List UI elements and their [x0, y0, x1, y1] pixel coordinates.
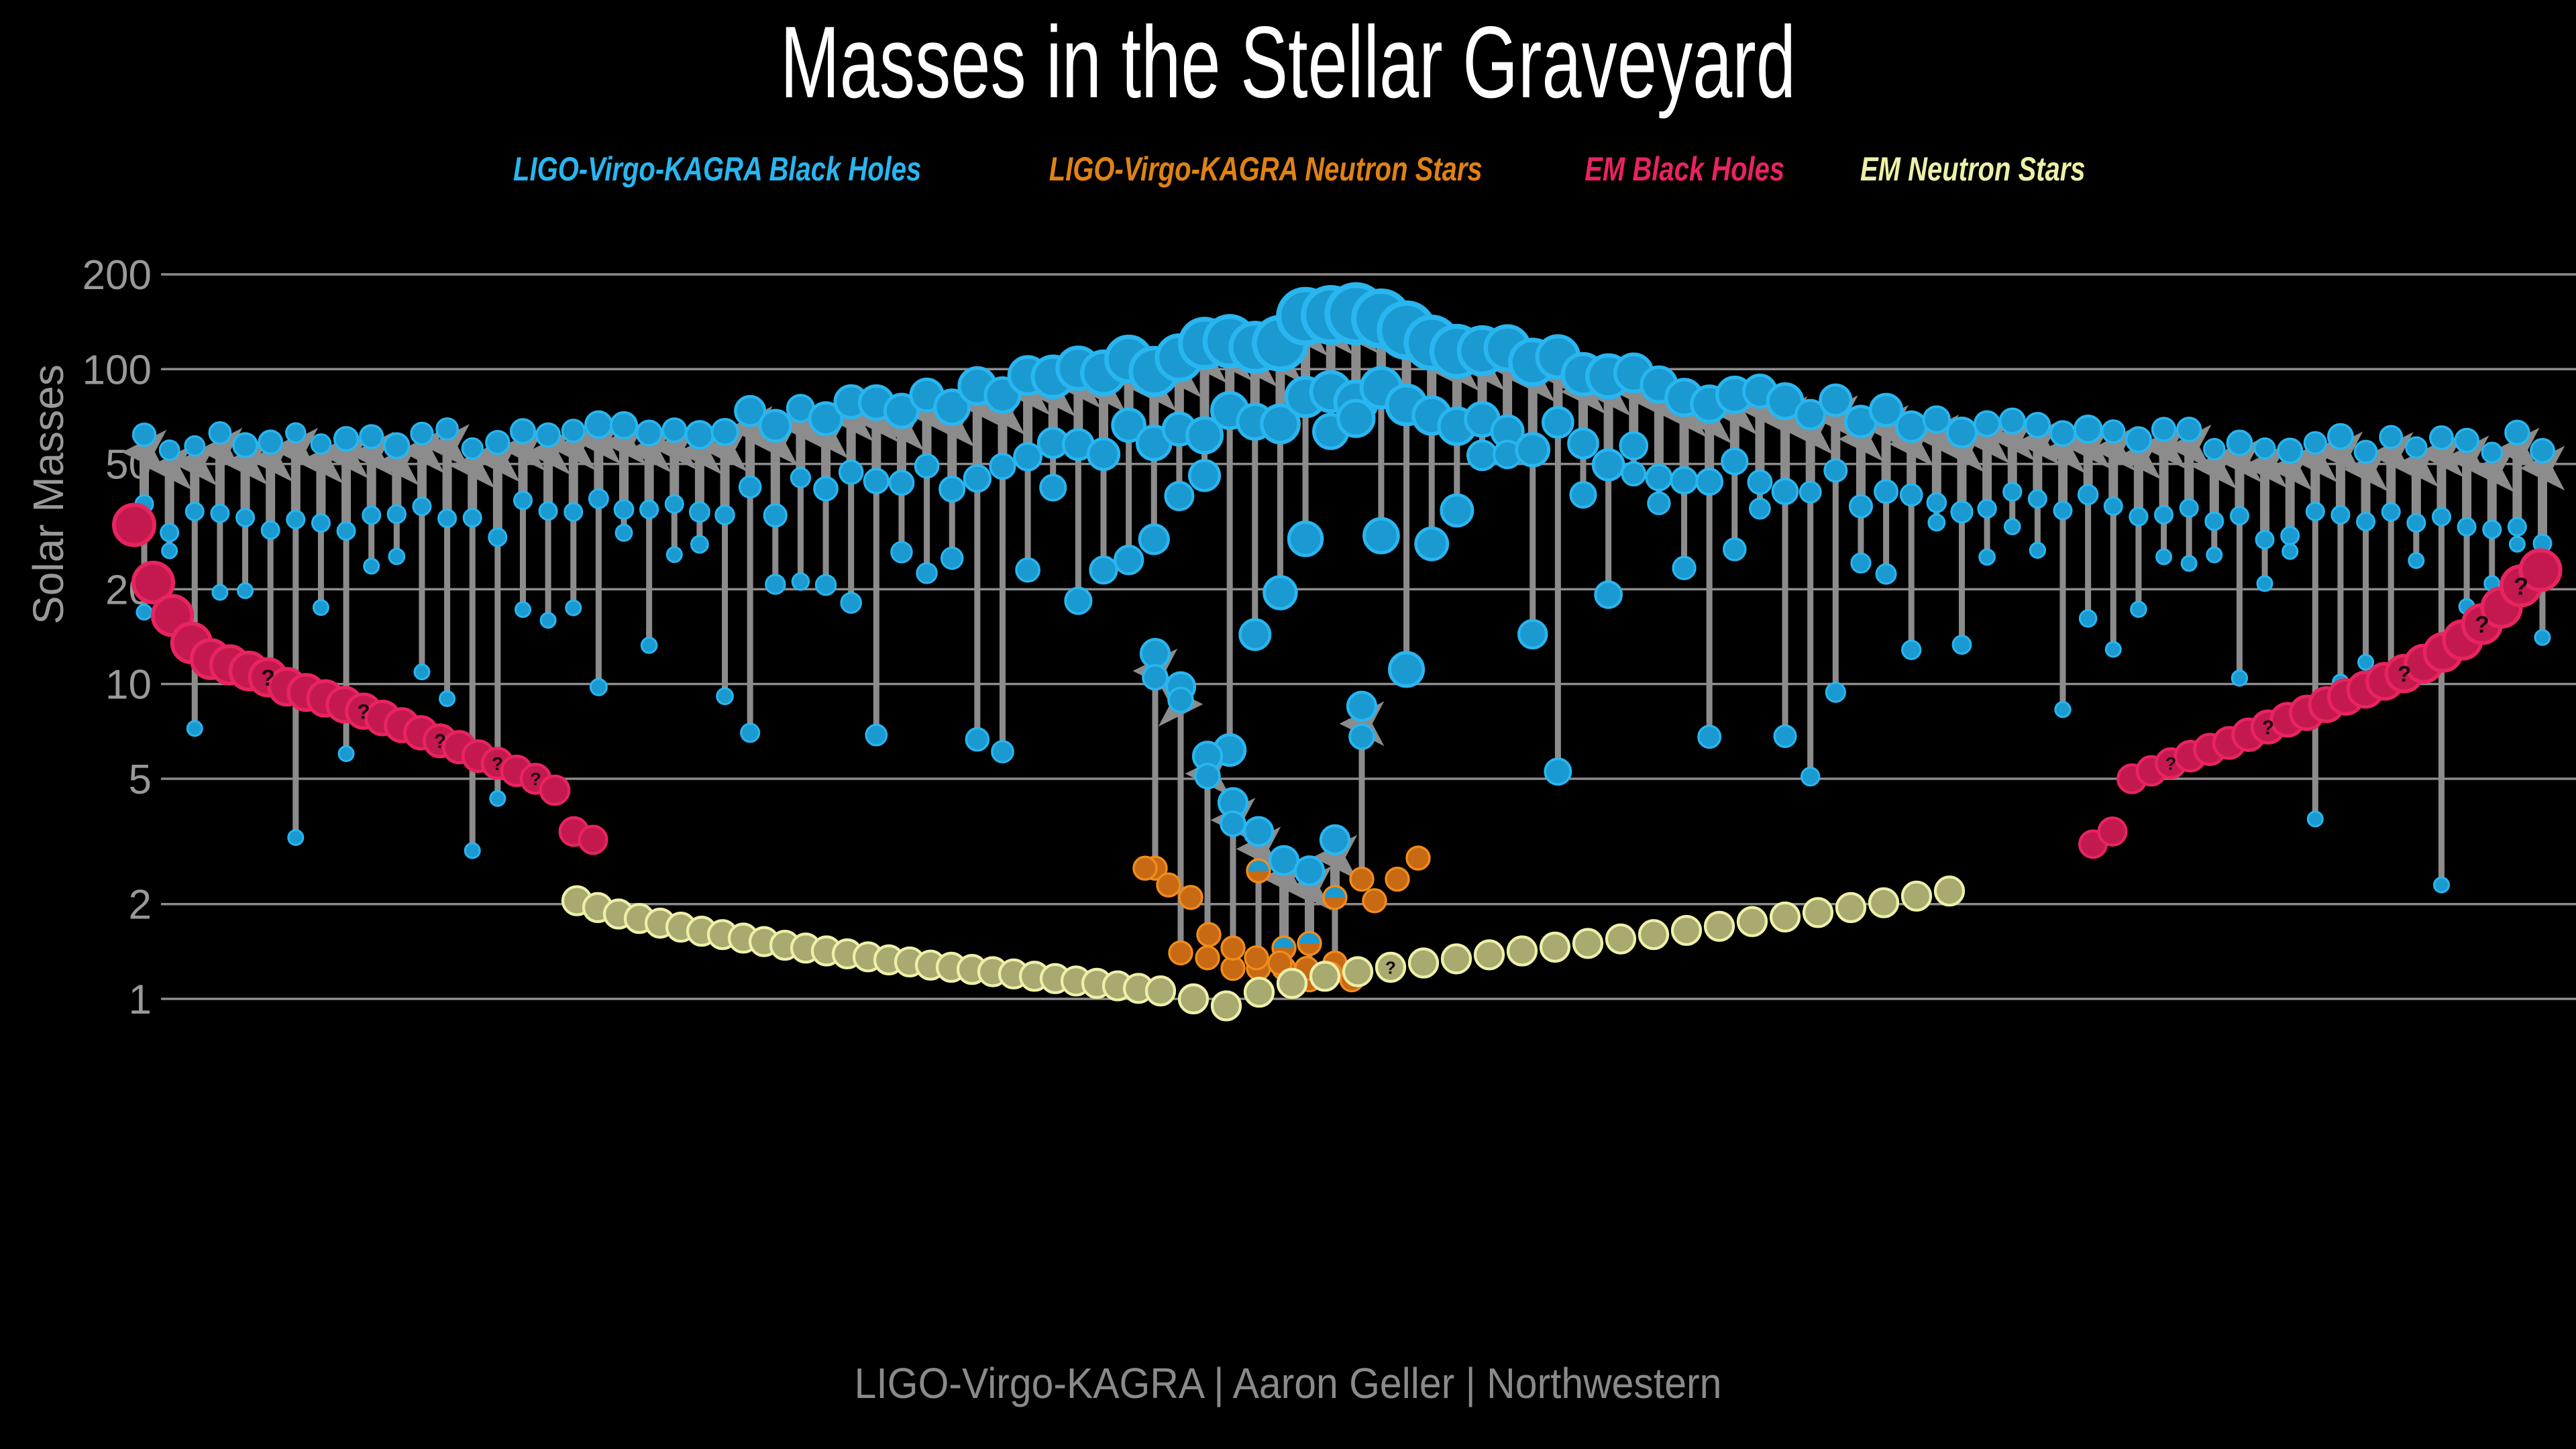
data-point [1245, 947, 1268, 969]
data-point [1607, 925, 1635, 953]
data-point [2357, 513, 2375, 531]
data-point [541, 776, 569, 804]
data-point [565, 503, 582, 521]
data-point [2255, 438, 2275, 458]
data-point [2256, 531, 2273, 548]
data-point [1875, 480, 1898, 503]
data-point [562, 420, 584, 442]
data-point [2055, 702, 2070, 717]
data-point [1902, 882, 1931, 910]
data-point [1545, 759, 1570, 784]
data-point [161, 524, 178, 541]
uncertainty-marker: ? [2475, 611, 2489, 638]
data-point [213, 585, 227, 600]
data-point [1951, 502, 1972, 523]
data-point [262, 521, 279, 539]
data-point [915, 454, 938, 477]
data-point [415, 665, 429, 680]
data-point [1750, 498, 1770, 519]
data-point [312, 515, 329, 532]
data-point [1270, 847, 1298, 875]
data-point [2157, 549, 2171, 564]
data-point [1442, 495, 1472, 526]
uncertainty-marker: ? [434, 731, 446, 753]
data-point [2257, 576, 2272, 591]
data-point [1311, 962, 1339, 990]
data-point [892, 542, 912, 562]
data-point [1265, 577, 1297, 609]
data-point [2025, 413, 2049, 437]
data-point [364, 559, 379, 574]
data-point [2075, 416, 2102, 443]
chart-canvas: Masses in the Stellar Graveyard LIGO-Vir… [0, 0, 2576, 1449]
data-point [589, 490, 608, 508]
data-point [641, 638, 657, 653]
data-point [2306, 503, 2324, 521]
data-point [2131, 602, 2147, 617]
data-point [917, 563, 936, 583]
data-point [667, 547, 682, 562]
data-point [1014, 443, 1041, 470]
data-point [611, 413, 637, 438]
data-point [1724, 539, 1746, 560]
data-point [2382, 503, 2400, 521]
data-point [1442, 945, 1470, 973]
data-point [764, 504, 786, 527]
data-point [760, 411, 791, 441]
data-point [1519, 621, 1546, 648]
uncertainty-marker: ? [1385, 957, 1396, 977]
data-point [1671, 468, 1697, 493]
data-point [160, 441, 179, 460]
data-point [1348, 692, 1376, 720]
data-point [1278, 969, 1306, 998]
data-point [1324, 886, 1346, 898]
data-point [1924, 407, 1949, 432]
data-point [2458, 518, 2475, 535]
data-point [539, 502, 557, 520]
data-point [1273, 936, 1295, 948]
data-point [1169, 688, 1193, 712]
data-point [335, 427, 358, 451]
data-point [186, 503, 203, 521]
data-point [1016, 559, 1039, 582]
data-point [211, 504, 229, 522]
data-point [1338, 400, 1374, 436]
data-point [413, 498, 431, 515]
data-point [2408, 515, 2425, 532]
data-point [1672, 916, 1701, 945]
data-point [1407, 847, 1430, 869]
data-point [2332, 506, 2349, 523]
data-point [890, 471, 913, 494]
data-point [965, 466, 991, 492]
data-point [1978, 500, 1996, 517]
data-point [990, 454, 1015, 479]
data-point [2178, 418, 2201, 441]
data-point [814, 477, 837, 500]
data-point [259, 431, 282, 453]
data-point [515, 602, 530, 617]
data-point [741, 724, 759, 742]
data-point [1475, 941, 1503, 969]
data-point [1947, 418, 1976, 447]
data-point [2406, 437, 2426, 458]
data-point [1773, 479, 1798, 504]
data-point [1673, 557, 1695, 579]
data-point [1517, 433, 1549, 466]
data-point [665, 495, 683, 513]
data-point [2227, 431, 2251, 455]
data-point [2099, 818, 2127, 845]
data-point [1975, 411, 2000, 436]
data-point [2102, 421, 2125, 443]
plot-svg: 200100502010521 ??????????? [0, 0, 2576, 1449]
data-point [2508, 518, 2526, 535]
data-point [2283, 544, 2298, 559]
data-point [1321, 826, 1349, 854]
data-point [1247, 859, 1270, 871]
data-point [2434, 877, 2449, 892]
data-point [1953, 636, 1971, 654]
data-point [2051, 421, 2075, 445]
data-point [1298, 932, 1321, 943]
data-point [1825, 460, 1847, 482]
data-point [287, 511, 305, 529]
data-point [1648, 492, 1670, 514]
data-point [739, 476, 760, 497]
data-point [360, 425, 383, 448]
data-point [133, 424, 155, 446]
data-point [2482, 443, 2502, 462]
uncertainty-marker: ? [2262, 716, 2274, 739]
data-point [1222, 936, 1244, 959]
data-point [1646, 465, 1671, 490]
data-point [1240, 620, 1270, 649]
data-point [1169, 941, 1192, 964]
data-point [1705, 912, 1733, 941]
data-point [1900, 484, 1922, 506]
data-point [286, 423, 305, 442]
credit-caption: LIGO-Virgo-KAGRA | Aaron Geller | Northw… [103, 1356, 2473, 1410]
data-point [1738, 908, 1766, 936]
data-point [209, 422, 231, 443]
data-point [2409, 553, 2424, 568]
data-point [2004, 483, 2021, 500]
data-point [2000, 409, 2025, 433]
data-point [1935, 877, 1964, 905]
data-point [238, 584, 253, 598]
data-point [614, 500, 633, 519]
data-point [1364, 519, 1399, 553]
uncertainty-marker: ? [530, 769, 541, 790]
uncertainty-marker: ? [2165, 753, 2177, 774]
data-point [2232, 671, 2247, 686]
data-point [1541, 933, 1569, 961]
data-point [942, 547, 963, 568]
data-point [1929, 515, 1945, 531]
data-point [1386, 868, 1409, 891]
data-point [486, 431, 509, 454]
data-point [137, 605, 152, 620]
data-point [1390, 653, 1424, 686]
data-point [1896, 412, 1926, 441]
data-point [237, 509, 254, 527]
data-point [2180, 499, 2198, 517]
data-point [866, 724, 887, 745]
data-point [1165, 482, 1193, 510]
data-point [1409, 949, 1438, 977]
data-point [490, 791, 505, 806]
data-point [2483, 521, 2501, 538]
data-point [1774, 726, 1796, 747]
data-point [514, 492, 531, 509]
uncertainty-marker: ? [2398, 662, 2411, 687]
data-point [1416, 528, 1448, 559]
data-point [1468, 441, 1497, 470]
data-point [185, 436, 205, 455]
data-point [1344, 957, 1372, 985]
data-point [1771, 903, 1799, 931]
data-point [686, 421, 713, 448]
data-point [388, 505, 405, 523]
data-point [1090, 557, 1116, 583]
data-point [2030, 543, 2045, 557]
data-point [1902, 641, 1921, 659]
data-point [1870, 889, 1898, 917]
data-point [716, 506, 734, 524]
data-point [389, 549, 405, 564]
data-point [1593, 449, 1623, 480]
data-point [1804, 898, 1832, 926]
data-point [616, 525, 632, 541]
data-point [2455, 429, 2478, 451]
data-point [2355, 441, 2377, 463]
data-point [2432, 508, 2450, 525]
data-point [1620, 433, 1647, 460]
data-point [288, 830, 303, 845]
data-point [1295, 857, 1324, 885]
data-point [1143, 665, 1167, 690]
y-tick-label: 5 [129, 757, 152, 803]
data-point [2204, 439, 2224, 459]
y-tick-label: 100 [83, 347, 152, 393]
data-point [2078, 485, 2097, 504]
data-point [816, 575, 835, 594]
uncertainty-marker: ? [492, 753, 503, 774]
data-point [1245, 978, 1273, 1006]
data-point [1543, 407, 1572, 437]
data-point [1826, 683, 1845, 702]
uncertainty-marker: ? [357, 699, 370, 723]
data-point [2380, 426, 2402, 448]
data-point [1040, 475, 1065, 500]
data-point [966, 729, 988, 751]
data-point [791, 468, 810, 487]
data-point [439, 510, 456, 527]
data-point [586, 412, 612, 438]
data-point [1197, 923, 1220, 946]
data-point [489, 529, 506, 546]
data-point [1146, 977, 1175, 1005]
data-point [766, 575, 785, 594]
data-point [437, 419, 458, 440]
uncertainty-marker: ? [261, 665, 275, 691]
data-point [339, 746, 354, 761]
data-point [864, 469, 888, 493]
data-point [1179, 886, 1202, 909]
data-point [2531, 439, 2554, 462]
data-point [1195, 764, 1220, 788]
y-tick-label: 10 [105, 662, 152, 708]
data-point [313, 600, 328, 615]
data-point [1157, 873, 1180, 896]
data-point [1927, 494, 1946, 513]
data-point [2106, 642, 2121, 657]
data-point [411, 423, 433, 444]
data-point [1801, 767, 1819, 786]
data-point [1289, 522, 1322, 555]
y-tick-label: 200 [83, 252, 152, 299]
data-point [1088, 439, 1119, 470]
data-point [1141, 639, 1169, 667]
data-point [1140, 525, 1169, 553]
data-point [384, 433, 409, 458]
data-point [363, 506, 380, 524]
data-point [2182, 556, 2196, 571]
data-point [691, 536, 708, 553]
data-point [637, 421, 661, 445]
data-point [162, 543, 177, 558]
data-point [462, 438, 482, 458]
data-point [590, 679, 606, 695]
data-point [2430, 427, 2453, 449]
data-point [1876, 564, 1896, 584]
data-point [1179, 985, 1207, 1013]
data-point [2328, 424, 2353, 448]
data-point [1640, 920, 1668, 949]
data-point [2104, 498, 2122, 515]
data-point [440, 691, 455, 706]
data-point [1115, 546, 1142, 574]
data-point [311, 434, 331, 453]
data-point [1748, 471, 1771, 494]
data-point [1065, 588, 1091, 613]
data-point [1574, 929, 1602, 957]
data-point [2278, 439, 2302, 463]
data-point [940, 477, 964, 501]
data-point [511, 419, 535, 443]
y-tick-labels: 200100502010521 [83, 252, 152, 1023]
data-point [114, 505, 154, 545]
data-point [1221, 812, 1245, 836]
data-points [114, 285, 2561, 1020]
data-point [1244, 818, 1273, 846]
data-point [566, 600, 581, 615]
data-point [580, 826, 607, 854]
data-point [1821, 385, 1851, 415]
data-point [2535, 630, 2550, 645]
data-point [1189, 461, 1220, 491]
data-point [792, 574, 808, 590]
data-point [541, 613, 555, 628]
data-point [717, 688, 733, 704]
data-point [2206, 513, 2223, 530]
data-point [2506, 421, 2529, 444]
data-point [2029, 490, 2046, 508]
data-point [1800, 482, 1821, 502]
data-point [1850, 495, 1872, 517]
y-tick-label: 1 [129, 977, 152, 1023]
data-point [1350, 724, 1374, 749]
data-point [187, 721, 202, 736]
data-point [2231, 507, 2248, 525]
data-point [1363, 890, 1386, 912]
data-point [1722, 449, 1748, 474]
data-point [1508, 937, 1536, 965]
y-tick-label: 2 [129, 882, 152, 928]
data-point [465, 843, 480, 858]
data-point [841, 593, 861, 612]
data-point [1699, 726, 1721, 748]
uncertainty-marker: ? [2514, 572, 2528, 600]
data-point [1568, 429, 1597, 458]
data-point [1980, 549, 1995, 565]
data-point [992, 741, 1014, 763]
data-point [1837, 894, 1865, 922]
data-point [2130, 508, 2147, 525]
data-point [2359, 655, 2373, 669]
data-point [1851, 553, 1870, 572]
data-point [2308, 812, 2322, 826]
data-point [2155, 506, 2173, 523]
data-point [337, 522, 355, 539]
data-point [2207, 547, 2222, 562]
data-point [1212, 991, 1240, 1020]
data-point [464, 509, 481, 527]
data-point [2282, 527, 2299, 545]
data-point [2304, 432, 2326, 453]
data-point [840, 461, 863, 484]
data-point [1697, 469, 1722, 494]
data-point [1622, 462, 1645, 485]
data-point [1196, 947, 1219, 969]
data-point [690, 502, 709, 522]
data-point [1595, 582, 1621, 608]
data-point [2510, 537, 2524, 551]
data-point [2080, 610, 2096, 627]
data-point [712, 419, 737, 445]
data-point [1350, 868, 1373, 891]
data-point [2153, 418, 2176, 441]
plot-area: 200100502010521 ??????????? [0, 0, 2576, 1449]
data-point [663, 419, 686, 441]
data-point [2054, 502, 2072, 519]
data-point [1134, 857, 1157, 879]
data-point [2127, 427, 2151, 451]
data-point [537, 423, 560, 447]
data-point [233, 433, 257, 457]
data-point [2004, 519, 2020, 535]
data-point [641, 500, 658, 518]
data-point [1570, 482, 1595, 507]
